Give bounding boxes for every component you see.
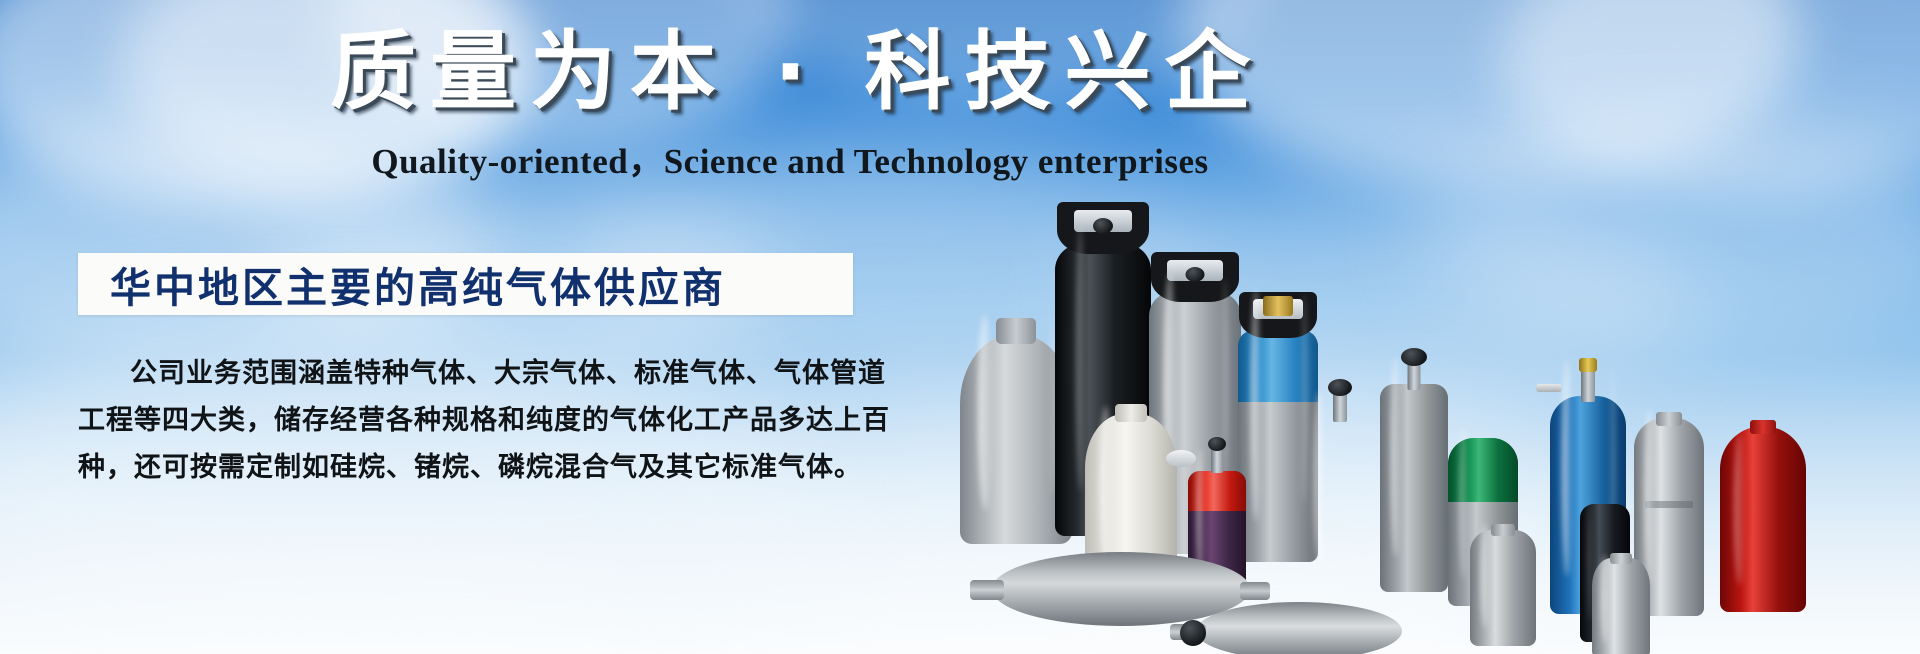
promo-banner: 质量为本 · 科技兴企 Quality-oriented，Science and… — [0, 0, 1920, 654]
paragraph-line: 工程等四大类，储存经营各种规格和纯度的气体化工产品多达上百 — [78, 397, 868, 444]
cylinder-grey-knob — [1380, 342, 1448, 592]
paragraph-line: 种，还可按需定制如硅烷、锗烷、磷烷混合气及其它标准气体。 — [78, 444, 868, 491]
cylinder-horizontal-small — [1170, 598, 1420, 654]
gas-cylinder-collection — [930, 0, 1920, 654]
cylinder-red — [1720, 422, 1806, 612]
cylinder-grey-valve — [1302, 379, 1378, 594]
banner-paragraph: 公司业务范围涵盖特种气体、大宗气体、标准气体、气体管道 工程等四大类，储存经营各… — [78, 350, 868, 491]
cylinder-aluminium-short — [1470, 516, 1536, 646]
tagline-box: 华中地区主要的高纯气体供应商 — [78, 253, 853, 315]
cylinder-aluminium-small — [1592, 548, 1650, 654]
paragraph-line: 公司业务范围涵盖特种气体、大宗气体、标准气体、气体管道 — [78, 350, 868, 397]
tagline-text: 华中地区主要的高纯气体供应商 — [78, 254, 726, 314]
